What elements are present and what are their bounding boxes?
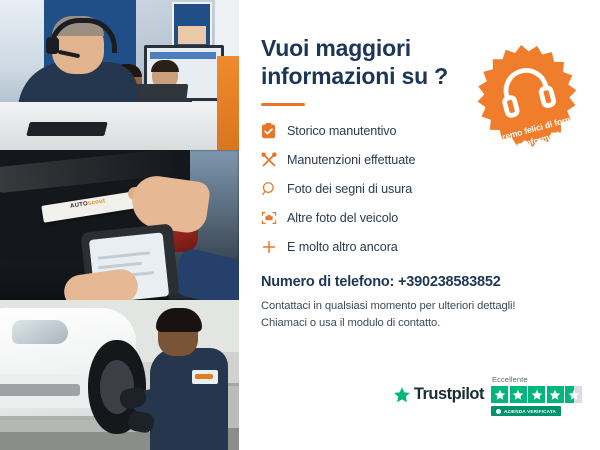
star-filled bbox=[491, 386, 508, 403]
photo-gallery: AUTOscout bbox=[0, 0, 239, 450]
star-filled bbox=[547, 386, 564, 403]
magnifier-icon-svg bbox=[261, 181, 277, 197]
crossed-tools-icon-svg bbox=[261, 152, 277, 168]
headlight-decor bbox=[12, 320, 68, 344]
grille-decor bbox=[0, 384, 80, 396]
trustpilot-star-icon bbox=[393, 386, 411, 404]
feature-label: Manutenzioni effettuate bbox=[287, 153, 415, 167]
headline-line-2: informazioni su ? bbox=[261, 63, 448, 89]
magnifier-icon bbox=[261, 181, 287, 197]
call-center-agents-photo bbox=[0, 0, 239, 150]
callout-badge: Saremo felici di fornirti queste informa… bbox=[462, 34, 595, 167]
page-title: Vuoi maggiori informazioni su ? bbox=[261, 34, 466, 90]
star-filled bbox=[510, 386, 527, 403]
headset-earcup-decor bbox=[46, 37, 59, 54]
verified-check-icon bbox=[496, 409, 501, 414]
promo-content-panel: Vuoi maggiori informazioni su ? Saremo f… bbox=[239, 0, 600, 450]
advertisement-card: AUTOscout bbox=[0, 0, 600, 450]
plus-icon-svg bbox=[261, 239, 277, 255]
trustpilot-stars bbox=[491, 386, 582, 403]
vehicle-damage-inspection-photo: AUTOscout bbox=[0, 150, 239, 300]
feature-item-more-photos: Altre foto del veicolo bbox=[261, 203, 578, 232]
contact-description-line-2: Chiamaci o usa il modulo di contatto. bbox=[261, 317, 440, 329]
trustpilot-logo: Trustpilot bbox=[393, 385, 484, 404]
trustpilot-score: Eccellente bbox=[491, 375, 582, 416]
photo-scan-icon-svg bbox=[261, 210, 277, 226]
feature-item-wear-photos: Foto dei segni di usura bbox=[261, 174, 578, 203]
feature-label: Storico manutentivo bbox=[287, 124, 396, 138]
feature-label: E molto altro ancora bbox=[287, 240, 398, 254]
star-half bbox=[565, 386, 582, 403]
trustpilot-rating[interactable]: Trustpilot Eccellente bbox=[393, 375, 582, 416]
feature-label: Altre foto del veicolo bbox=[287, 211, 398, 225]
contact-description-line-1: Contattaci in qualsiasi momento per ulte… bbox=[261, 300, 515, 312]
crossed-tools-icon bbox=[261, 152, 287, 168]
star-filled bbox=[528, 386, 545, 403]
title-divider bbox=[261, 103, 305, 106]
mechanic-wheel-check-photo bbox=[0, 300, 239, 450]
poster-decor bbox=[172, 2, 212, 50]
monitor-screen-bar-decor bbox=[150, 52, 216, 59]
photo-scan-icon bbox=[261, 210, 287, 226]
keyboard-decor bbox=[26, 122, 107, 136]
verified-business-label: AZIENDA VERIFICATA bbox=[504, 409, 556, 414]
mechanic-hair-decor bbox=[156, 308, 202, 332]
uniform-patch-decor bbox=[192, 370, 218, 384]
feature-label: Foto dei segni di usura bbox=[287, 182, 412, 196]
verified-business-badge: AZIENDA VERIFICATA bbox=[491, 406, 561, 416]
headline-line-1: Vuoi maggiori bbox=[261, 35, 411, 61]
clipboard-check-icon-svg bbox=[261, 123, 276, 139]
contact-description: Contattaci in qualsiasi momento per ulte… bbox=[261, 298, 521, 333]
plus-icon bbox=[261, 239, 287, 255]
orange-panel-decor bbox=[217, 56, 239, 150]
feature-item-much-more: E molto altro ancora bbox=[261, 232, 578, 261]
hand-lower-decor bbox=[62, 267, 140, 300]
phone-number-label: Numero di telefono: +390238583852 bbox=[261, 274, 578, 290]
clipboard-check-icon bbox=[261, 123, 287, 139]
trustpilot-rating-label: Eccellente bbox=[492, 375, 528, 384]
trustpilot-wordmark: Trustpilot bbox=[414, 385, 484, 404]
